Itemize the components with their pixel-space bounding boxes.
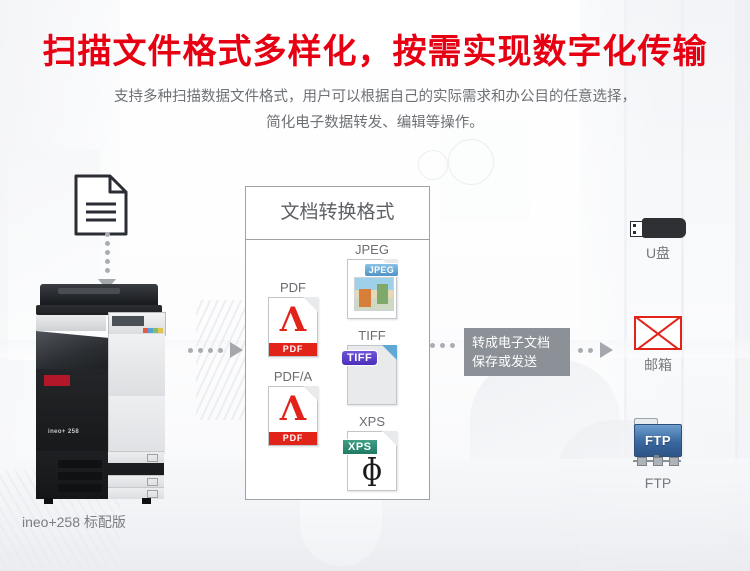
callout-line-2: 保存或发送 — [472, 352, 562, 371]
printer-document-feeder — [40, 284, 158, 306]
page-title: 扫描文件格式多样化，按需实现数字化传输 — [0, 24, 750, 73]
photo-thumbnail — [354, 277, 394, 311]
background-chair-one — [470, 360, 620, 480]
pdfa-badge: PDF — [269, 432, 317, 445]
format-label-tiff: TIFF — [339, 328, 405, 343]
acrobat-glyph: Λ — [269, 392, 317, 426]
envelope-icon — [634, 316, 682, 350]
flow-arrow-formats-to-callout — [430, 343, 455, 348]
arrow-right-icon — [600, 342, 613, 358]
xps-badge: XPS — [342, 439, 378, 455]
xps-swirl-glyph: ɸ — [348, 456, 396, 486]
pdfa-file-icon: Λ PDF — [268, 386, 318, 446]
printer-model-label: ineo+258 标配版 — [22, 512, 126, 532]
pdf-badge: PDF — [269, 343, 317, 356]
acrobat-glyph: Λ — [269, 303, 317, 337]
arrow-right-icon — [230, 342, 243, 358]
format-item-jpeg: JPEG JPEG — [339, 242, 405, 319]
flow-arrow-callout-to-destinations — [578, 342, 613, 358]
printer-brand-logo — [44, 375, 70, 386]
printer-illustration: ineo+ 258 — [34, 284, 166, 506]
document-icon — [74, 174, 128, 241]
printer-tray-handle — [58, 484, 102, 492]
printer-scanner-glass — [36, 315, 106, 331]
promo-page: 扫描文件格式多样化，按需实现数字化传输 支持多种扫描数据文件格式，用户可以根据自… — [0, 0, 750, 571]
format-label-jpeg: JPEG — [339, 242, 405, 257]
network-node — [653, 457, 663, 466]
ftp-folder-badge: FTP — [634, 424, 682, 457]
jpeg-badge: JPEG — [364, 263, 399, 277]
usb-body — [642, 218, 686, 238]
background-circle-large — [448, 139, 494, 185]
callout-line-1: 转成电子文档 — [472, 333, 562, 352]
printer-main-body: ineo+ 258 — [36, 369, 108, 451]
usb-drive-icon — [630, 218, 686, 238]
destination-ftp: FTP FTP — [613, 418, 703, 491]
destination-usb: U盘 — [613, 218, 703, 263]
jpeg-file-icon: JPEG — [347, 259, 397, 319]
network-node — [637, 457, 647, 466]
printer-paper-drawer — [108, 451, 164, 463]
format-item-pdfa: PDF/A Λ PDF — [260, 369, 326, 446]
destination-email: 邮箱 — [613, 316, 703, 375]
printer-keypad — [143, 328, 163, 333]
destination-label-ftp: FTP — [613, 475, 703, 491]
background-circle-small — [418, 150, 448, 180]
tiff-file-icon: TIFF — [347, 345, 397, 405]
printer-caster — [44, 498, 53, 504]
format-panel-title: 文档转换格式 — [246, 187, 429, 240]
flow-arrow-printer-to-formats — [188, 342, 243, 358]
printer-caster — [142, 498, 151, 504]
scan-flow-down-arrow — [98, 232, 116, 290]
ftp-folder-icon: FTP — [631, 418, 685, 470]
conversion-callout: 转成电子文档 保存或发送 — [464, 328, 570, 376]
destination-label-email: 邮箱 — [613, 355, 703, 375]
document-format-panel: 文档转换格式 PDF Λ PDF PDF/A Λ PDF JPEG — [245, 186, 430, 500]
printer-tray-handle — [58, 472, 102, 480]
printer-output-tray — [36, 331, 108, 369]
printer-tray-handle — [58, 460, 102, 468]
format-label-pdfa: PDF/A — [260, 369, 326, 384]
network-node — [669, 457, 679, 466]
tiff-badge: TIFF — [341, 350, 378, 366]
pdf-file-icon: Λ PDF — [268, 297, 318, 357]
xps-file-icon: ɸ XPS — [347, 431, 397, 491]
format-label-pdf: PDF — [260, 280, 326, 295]
format-item-tiff: TIFF TIFF — [339, 328, 405, 405]
page-subtitle: 支持多种扫描数据文件格式，用户可以根据自己的实际需求和办公目的任意选择， 简化电… — [50, 84, 700, 136]
printer-right-upper-panel — [108, 334, 165, 396]
printer-paper-drawers — [108, 451, 164, 499]
printer-model-text: ineo+ 258 — [48, 429, 79, 435]
format-item-pdf: PDF Λ PDF — [260, 280, 326, 357]
printer-touchscreen — [112, 316, 144, 326]
format-panel-body: PDF Λ PDF PDF/A Λ PDF JPEG — [246, 240, 429, 498]
destination-label-usb: U盘 — [613, 243, 703, 263]
page-subtitle-line-1: 支持多种扫描数据文件格式，用户可以根据自己的实际需求和办公目的任意选择， — [50, 84, 700, 110]
format-item-xps: XPS ɸ XPS — [339, 414, 405, 491]
printer-right-mid-panel — [108, 396, 165, 454]
page-subtitle-line-2: 简化电子数据转发、编辑等操作。 — [50, 110, 700, 136]
format-label-xps: XPS — [339, 414, 405, 429]
printer-control-panel — [108, 312, 166, 336]
printer-paper-drawer — [108, 475, 164, 487]
printer-paper-drawer — [108, 487, 164, 499]
